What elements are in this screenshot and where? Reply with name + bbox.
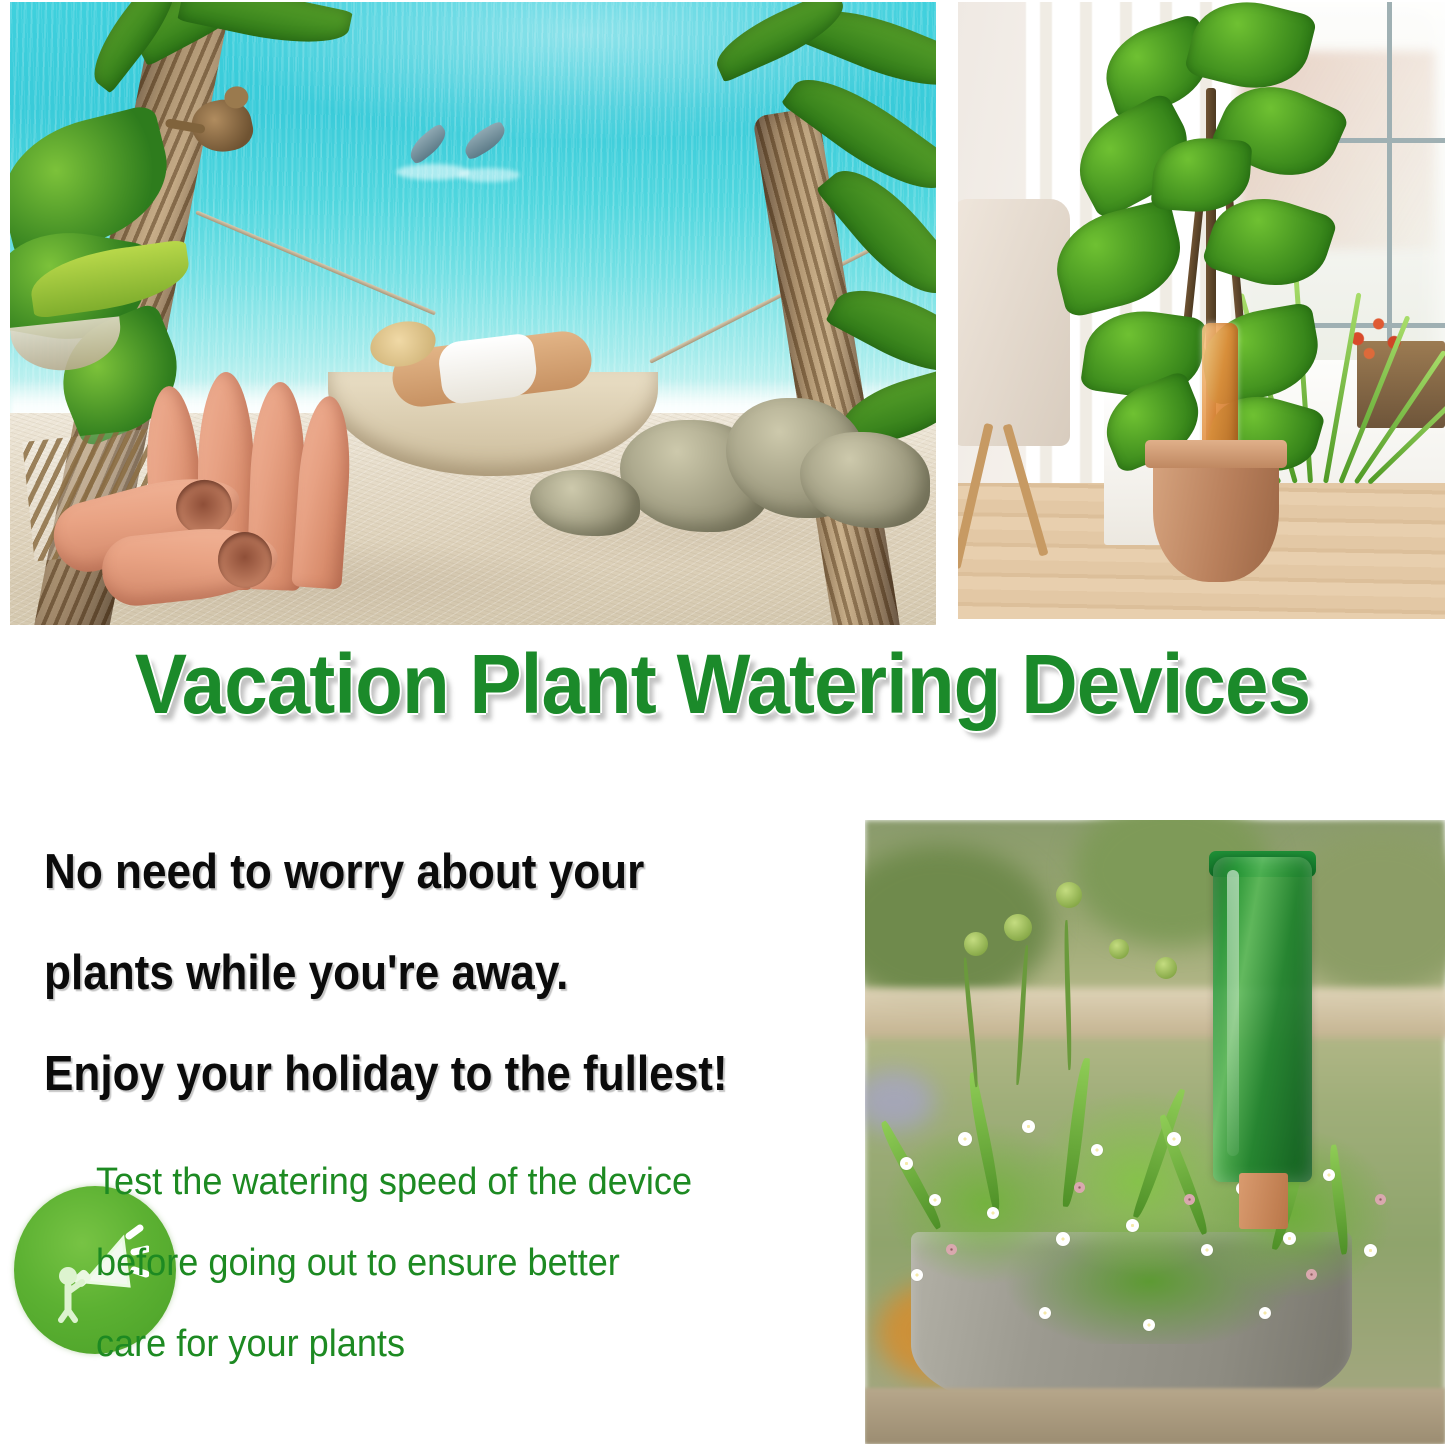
outdoor-planter-photo — [865, 820, 1445, 1444]
daisy-flower — [987, 1207, 999, 1219]
tagline-line-3: Enjoy your holiday to the fullest! — [44, 1024, 764, 1125]
wooden-deck — [865, 1388, 1445, 1444]
chair — [958, 199, 1070, 446]
pink-daisy-flower — [1306, 1269, 1317, 1280]
daisy-flower — [1167, 1132, 1181, 1146]
note-line-3: care for your plants — [96, 1304, 818, 1385]
daisy-flower — [1022, 1120, 1035, 1133]
terracotta-pot-rim — [1145, 440, 1286, 468]
daisy-flower — [900, 1157, 913, 1170]
daisy-flower — [958, 1132, 972, 1146]
green-wine-bottle-watering-device — [1213, 857, 1312, 1181]
tagline-line-2: plants while you're away. — [44, 923, 764, 1024]
green-bud — [964, 932, 988, 956]
note-line-2: before going out to ensure better — [96, 1223, 818, 1304]
background-rail — [865, 988, 1445, 1038]
green-bud — [1004, 914, 1032, 941]
green-bud — [1109, 939, 1129, 959]
tagline-line-1: No need to worry about your — [44, 822, 764, 923]
terracotta-stake — [1239, 1173, 1288, 1229]
beach-hammock-photo — [10, 2, 936, 625]
indoor-potted-plant-photo — [958, 2, 1445, 619]
tagline-block: No need to worry about your plants while… — [44, 822, 764, 1125]
page-title: Vacation Plant Watering Devices — [51, 642, 1395, 726]
pink-daisy-flower — [1074, 1182, 1085, 1193]
note-block: Test the watering speed of the device be… — [96, 1142, 818, 1385]
daisy-flower — [1039, 1307, 1051, 1319]
dolphin-splash — [458, 168, 520, 182]
grass-blade — [1323, 293, 1361, 484]
daisy-flower — [1283, 1232, 1296, 1245]
note-line-1: Test the watering speed of the device — [96, 1142, 818, 1223]
